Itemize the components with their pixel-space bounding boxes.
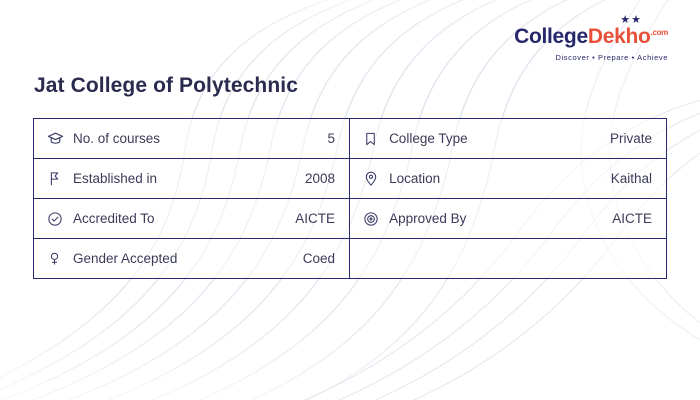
info-label: Established in [73, 171, 305, 186]
table-row: Gender Accepted Coed [34, 239, 667, 279]
college-info-table: No. of courses 5 College Type Private [33, 118, 667, 279]
info-label: Accredited To [73, 211, 295, 226]
table-cell-courses: No. of courses 5 [34, 119, 350, 159]
info-value: AICTE [295, 211, 335, 226]
info-label: College Type [389, 131, 610, 146]
info-value: Private [610, 131, 652, 146]
table-cell-gender: Gender Accepted Coed [34, 239, 350, 279]
info-value: Coed [303, 251, 335, 266]
page-title: Jat College of Polytechnic [34, 74, 298, 98]
flag-icon [47, 170, 73, 187]
logo-tagline: Discover • Prepare • Achieve [514, 54, 668, 62]
table-cell-college-type: College Type Private [350, 119, 667, 159]
logo-text: CollegeDekho.com [514, 26, 668, 47]
info-label: Location [389, 171, 611, 186]
info-value: AICTE [612, 211, 652, 226]
logo-text-domain: .com [651, 28, 668, 37]
table-cell-approved-by: Approved By AICTE [350, 199, 667, 239]
graduation-cap-icon [47, 130, 73, 147]
info-value: 2008 [305, 171, 335, 186]
check-circle-icon [47, 211, 73, 227]
gender-icon [47, 250, 73, 267]
logo-text-college: College [514, 25, 588, 48]
info-label: Approved By [389, 211, 612, 226]
site-logo[interactable]: ★★ CollegeDekho.com Discover • Prepare •… [514, 26, 668, 62]
logo-stars-icon: ★★ [620, 15, 642, 26]
info-label: Gender Accepted [73, 251, 303, 266]
logo-text-dekho: Dekho [588, 25, 651, 48]
info-label: No. of courses [73, 131, 328, 146]
info-value: Kaithal [611, 171, 652, 186]
table-cell-established: Established in 2008 [34, 159, 350, 199]
map-pin-icon [363, 170, 389, 187]
table-row: No. of courses 5 College Type Private [34, 119, 667, 159]
table-cell-location: Location Kaithal [350, 159, 667, 199]
info-value: 5 [328, 131, 336, 146]
table-cell-empty [350, 239, 667, 279]
table-cell-accredited: Accredited To AICTE [34, 199, 350, 239]
target-icon [363, 211, 389, 227]
bookmark-icon [363, 131, 389, 147]
table-row: Accredited To AICTE Approved [34, 199, 667, 239]
table-row: Established in 2008 Location Kaith [34, 159, 667, 199]
